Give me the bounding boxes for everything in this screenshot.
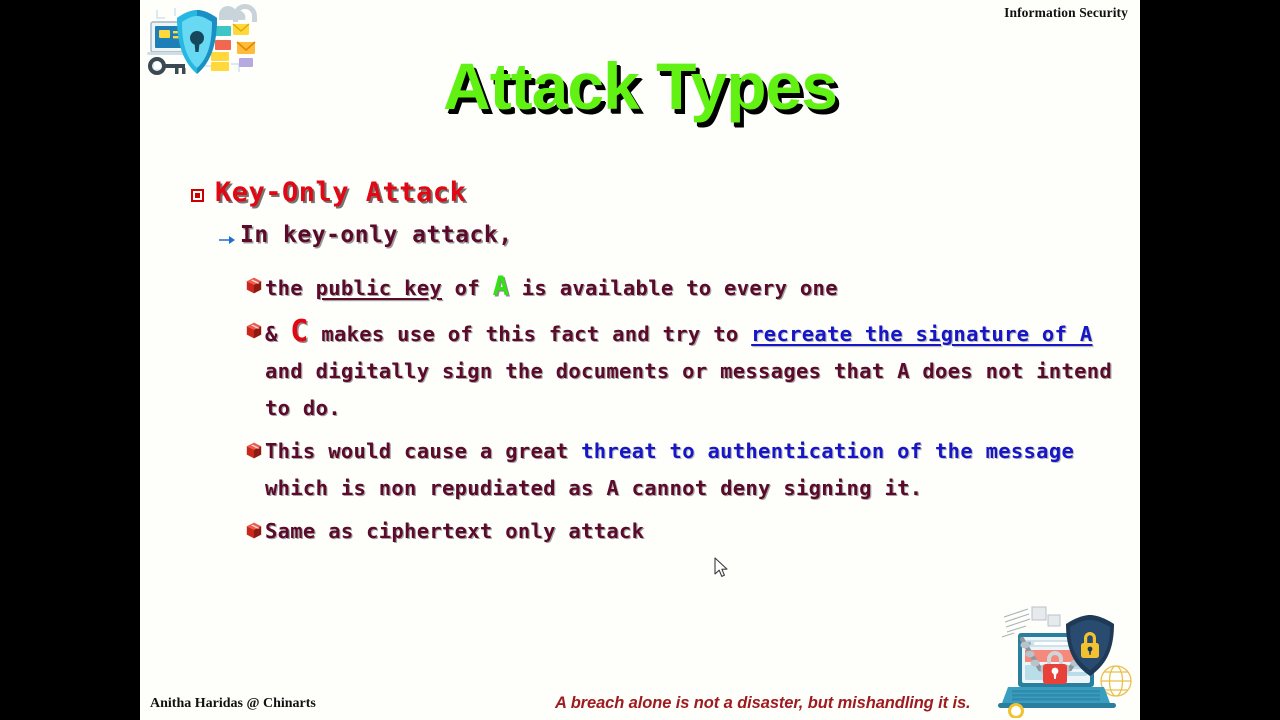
bullet-text-run: makes use of this fact and try to [309,322,751,346]
bullet-item-threat-to-authentication: This would cause a great threat to authe… [140,433,1140,507]
bullet-text-run: This would cause a great [265,439,581,463]
mouse-cursor [714,557,730,579]
bullet-text: & C makes use of this fact and try to re… [265,322,1112,420]
screenshot-stage: Information Security Attack Types Key-On… [0,0,1280,720]
square-bullet-icon [191,189,204,202]
bullet-text: Same as ciphertext only attack [265,519,644,543]
cube-bullet-icon [246,322,262,339]
emphasis-underline: public key [316,276,442,300]
arrow-bullet-icon [219,235,235,245]
bullet-item-c-recreates-signature: & C makes use of this fact and try to re… [140,313,1140,427]
footer-author: Anitha Haridas @ Chinarts [150,696,316,712]
bullet-text-run: which is non repudiated as A cannot deny… [265,476,922,500]
bullet-text-run: of [442,276,493,300]
bullet-text-run: the [265,276,316,300]
letterbox-right [1140,0,1280,720]
bullet-text-run: and digitally sign the documents or mess… [265,359,1112,420]
presentation-slide: Information Security Attack Types Key-On… [140,0,1140,720]
entity-label-c: C [290,314,308,349]
bullet-text-run: is available to every one [509,276,838,300]
letterbox-left [0,0,140,720]
bullet-item-public-key-available: the public key of A is available to ever… [140,268,1140,307]
bullet-text-run: & [265,322,290,346]
laptop-chained-padlock-illustration [998,603,1138,718]
bullet-text-run: Same as ciphertext only attack [265,519,644,543]
bullet-level2-in-key-only-attack: In key-only attack, [140,222,1140,268]
bullet-item-same-as-ciphertext-only: Same as ciphertext only attack [140,513,1140,550]
slide-title: Attack Types [140,50,1140,122]
bullet-text: This would cause a great threat to authe… [265,439,1074,500]
header-subject-label: Information Security [1004,5,1128,21]
bullet-text: the public key of A is available to ever… [265,276,838,300]
cube-bullet-icon [246,522,262,539]
subheading-text: In key-only attack, [240,222,513,248]
entity-label-a: A [493,271,510,302]
slide-body: Key-Only Attack In key-only attack, the … [140,178,1140,556]
heading-text: Key-Only Attack [215,177,466,208]
footer-tagline: A breach alone is not a disaster, but mi… [555,694,971,713]
bullet-level1-key-only-attack: Key-Only Attack [140,178,1140,222]
bullet-level3-list: the public key of A is available to ever… [140,268,1140,550]
emphasis-blue: threat to authentication of the message [581,439,1074,463]
cube-bullet-icon [246,442,262,459]
cube-bullet-icon [246,277,262,294]
emphasis-blue-underline: recreate the signature of A [751,322,1092,346]
